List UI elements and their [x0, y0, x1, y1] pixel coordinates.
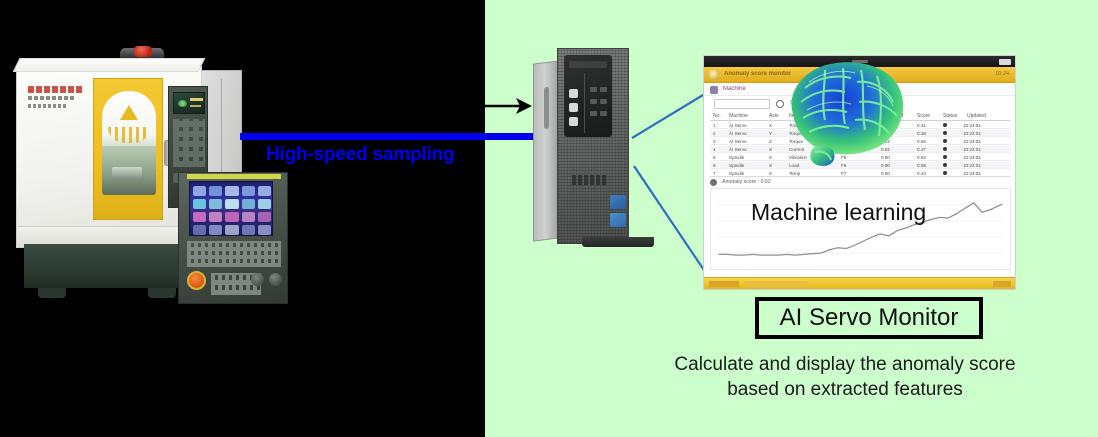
desktop-pc-tower: [533, 48, 638, 250]
col-no: No.: [713, 113, 729, 119]
status-badge: [943, 139, 947, 143]
machine-brand-subtext: [28, 96, 74, 100]
machine-brand-subtext-2: [28, 104, 68, 108]
pendant-screen: [189, 181, 273, 236]
high-speed-sampling-label: High-speed sampling: [266, 144, 490, 166]
diagram-caption: Calculate and display the anomaly score …: [620, 352, 1070, 402]
col-status: Status: [943, 113, 967, 119]
data-flow-arrow-icon: [470, 92, 534, 120]
machine-door-window: [102, 91, 156, 195]
machine-body-lid: [13, 58, 206, 72]
machine-status-lamp-icon: [134, 46, 152, 57]
app-logo-icon: [709, 70, 719, 80]
status-badge: [943, 171, 947, 175]
pc-front-panel: [557, 48, 629, 244]
pendant-emergency-stop-icon: [187, 271, 206, 290]
diagram-canvas: High-speed sampling: [0, 0, 1098, 437]
machine-foot-left: [38, 288, 66, 298]
col-machine: Machine: [729, 113, 769, 119]
anomaly-status-text: Anomaly score : 0.62: [722, 179, 771, 185]
status-badge: [943, 123, 947, 127]
app-subheader-title: Machine: [723, 86, 746, 92]
status-badge: [943, 163, 947, 167]
pc-drive-bay: [564, 55, 612, 137]
ai-servo-monitor-callout: AI Servo Monitor: [755, 297, 983, 339]
app-footer-bar: [704, 277, 1016, 289]
machine-door: [93, 78, 163, 220]
brain-icon: [779, 52, 911, 172]
warning-triangle-icon: [120, 105, 138, 120]
pc-badge-cpu: [610, 195, 626, 209]
app-header-clock: 10:24: [995, 71, 1009, 77]
machine-foot-right: [148, 288, 176, 298]
ai-servo-monitor-label: AI Servo Monitor: [780, 304, 959, 332]
machine-learning-overlay-label: Machine learning: [751, 199, 926, 226]
anomaly-status-bar: Anomaly score : 0.62: [710, 176, 1011, 186]
high-speed-sampling-line: [240, 133, 546, 140]
machine-panel-keys: [173, 119, 205, 167]
pc-brand-logo: [572, 175, 608, 185]
caption-line-1: Calculate and display the anomaly score: [620, 352, 1070, 377]
machine-brand-logo: [28, 86, 82, 93]
status-badge: [943, 147, 947, 151]
status-indicator-icon: [710, 179, 717, 186]
pendant-keypad: [187, 241, 281, 267]
anomaly-score-chart: Machine learning: [710, 188, 1011, 270]
window-minimize-icon[interactable]: [999, 59, 1011, 65]
machine-pin-icon: [710, 86, 718, 94]
col-score: Score: [917, 113, 943, 119]
cnc-operator-pendant: [178, 172, 288, 304]
status-badge: [943, 155, 947, 159]
machine-panel-screen: [173, 92, 205, 114]
pendant-dial-left: [251, 273, 264, 286]
machine-vise: [112, 167, 142, 180]
pc-side-panel: [533, 60, 559, 241]
machine-base: [24, 244, 192, 288]
search-input[interactable]: [714, 99, 770, 109]
pendant-dial-right: [269, 273, 282, 286]
col-updated: Updated: [967, 113, 1007, 119]
status-badge: [943, 131, 947, 135]
pc-badge-os: [610, 213, 626, 227]
caption-line-2: based on extracted features: [620, 377, 1070, 402]
machine-tool-carousel: [108, 127, 150, 143]
